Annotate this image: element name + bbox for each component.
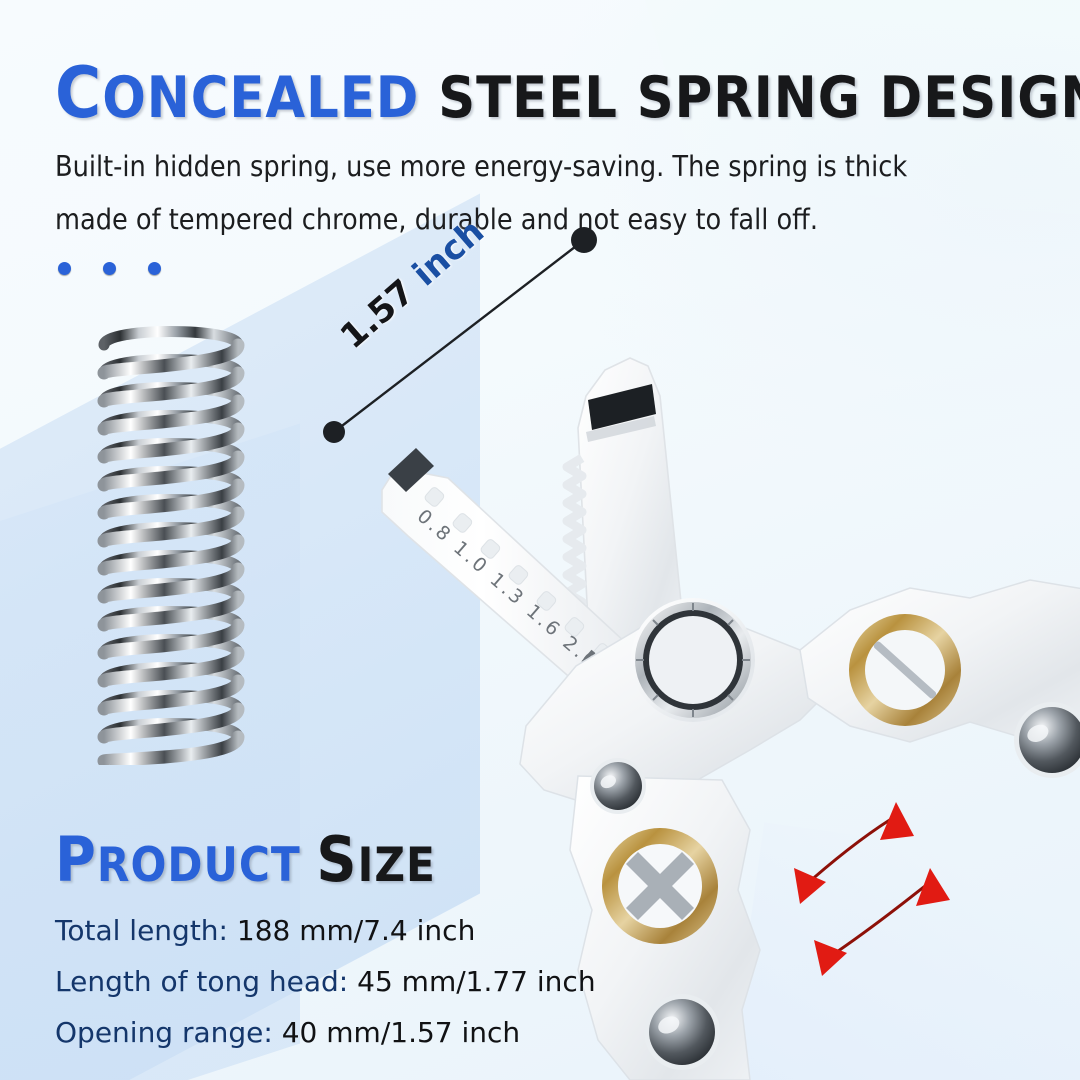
size-heading-cap-s: S [316, 823, 357, 896]
measurement-endpoint-end [571, 227, 597, 253]
spec-row-tong-head-length: Length of tong head: 45 mm/1.77 inch [55, 956, 675, 1007]
heading-drop-cap: C [55, 52, 102, 134]
decorative-dots [58, 262, 161, 275]
spec-row-opening-range: Opening range: 40 mm/1.57 inch [55, 1007, 675, 1058]
spec-list: Total length: 188 mm/7.4 inch Length of … [55, 905, 675, 1058]
opening-range-arrows [794, 802, 950, 976]
size-heading-dark-text: IZE [358, 838, 436, 893]
spec-label: Length of tong head: [55, 965, 357, 998]
pivot-ring [631, 598, 755, 722]
spec-value: 188 mm/7.4 inch [237, 914, 475, 947]
spec-value: 45 mm/1.77 inch [357, 965, 595, 998]
ball-rivet-mid-left [590, 758, 646, 814]
dot-icon-3 [148, 262, 161, 275]
spec-value: 40 mm/1.57 inch [282, 1016, 520, 1049]
product-size-heading: PRODUCT SIZE [55, 823, 436, 896]
size-heading-cap-p: P [55, 823, 97, 896]
spec-label: Total length: [55, 914, 237, 947]
coil-spring-image [82, 325, 260, 765]
measurement-callout: 1.57 inch [300, 210, 640, 470]
heading-blue-text: ONCEALED [102, 65, 419, 131]
measurement-endpoint-start [323, 421, 345, 443]
description-line-1: Built-in hidden spring, use more energy-… [55, 140, 1015, 193]
dot-icon-1 [58, 262, 71, 275]
spec-label: Opening range: [55, 1016, 282, 1049]
brass-ring-slot [849, 614, 961, 726]
dot-icon-2 [103, 262, 116, 275]
size-heading-blue-text: RODUCT [97, 838, 317, 893]
spring-svg [82, 325, 260, 765]
spec-row-total-length: Total length: 188 mm/7.4 inch [55, 905, 675, 956]
infographic-page: CONCEALED STEEL SPRING DESIGN Built-in h… [0, 0, 1080, 1080]
main-heading: CONCEALED STEEL SPRING DESIGN [55, 52, 1045, 134]
heading-dark-text: STEEL SPRING DESIGN [419, 65, 1080, 131]
